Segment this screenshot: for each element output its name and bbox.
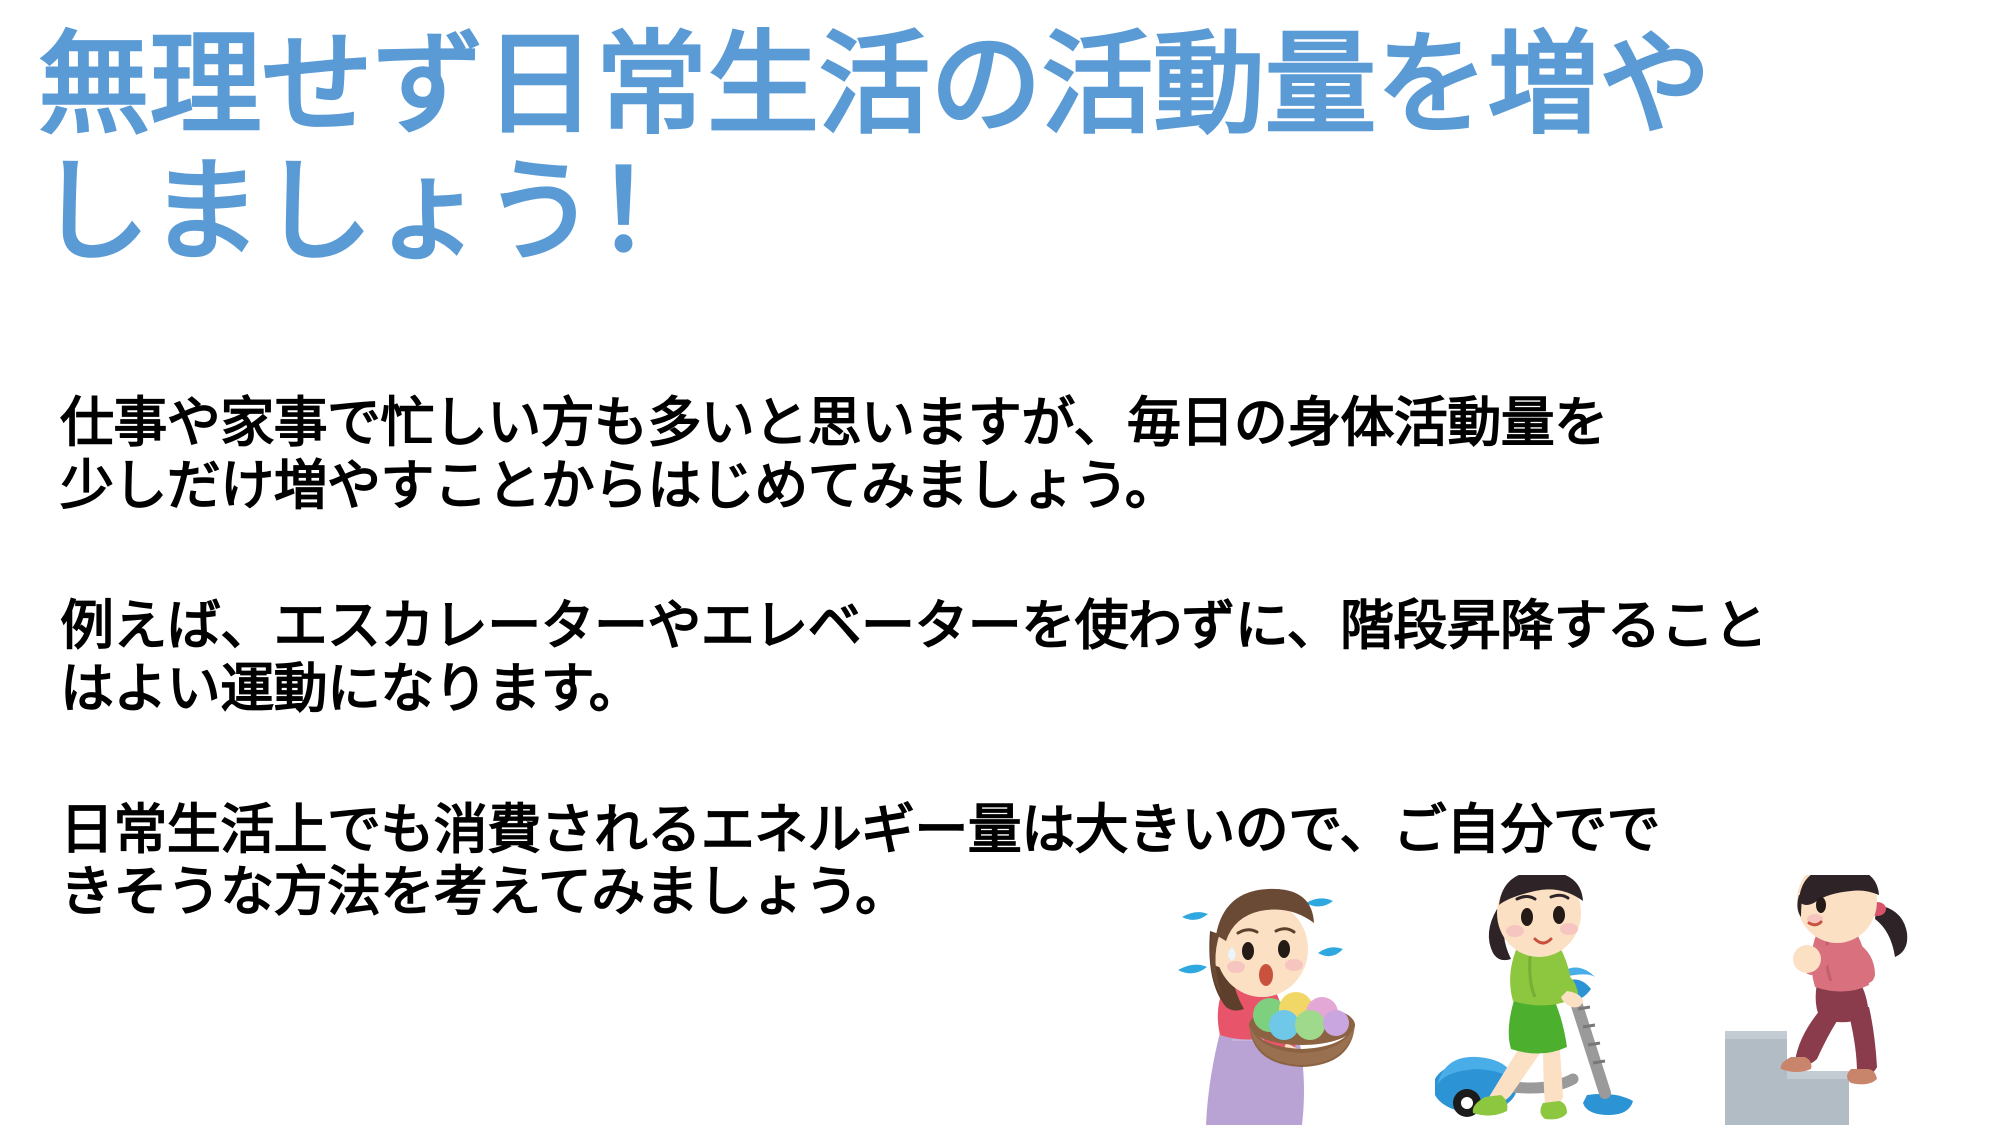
paragraph-2-line-2: はよい運動になります。 [60, 658, 1980, 721]
slide-canvas: 無理せず日常生活の活動量を増や しましょう！ 仕事や家事で忙しい方も多いと思いま… [0, 0, 2000, 1125]
paragraph-3-line-1: 日常生活上でも消費されるエネルギー量は大きいので、ご自分でで [60, 799, 1980, 862]
paragraph-1-line-2: 少しだけ増やすことからはじめてみましょう。 [60, 455, 1980, 518]
title-line-2: しましょう！ [38, 149, 1928, 276]
paragraph-1: 仕事や家事で忙しい方も多いと思いますが、毎日の身体活動量を 少しだけ増やすことか… [60, 392, 1980, 517]
paragraph-2: 例えば、エスカレーターやエレベーターを使わずに、階段昇降すること はよい運動にな… [60, 595, 1980, 720]
illustration-row [1150, 875, 2000, 1125]
paragraph-2-line-1: 例えば、エスカレーターやエレベーターを使わずに、階段昇降すること [60, 595, 1980, 658]
woman-vacuuming-illustration [1435, 875, 1695, 1125]
page-title: 無理せず日常生活の活動量を増や しましょう！ [38, 22, 1928, 275]
paragraph-1-line-1: 仕事や家事で忙しい方も多いと思いますが、毎日の身体活動量を [60, 392, 1980, 455]
woman-carrying-laundry-basket-illustration [1150, 875, 1400, 1125]
title-line-1: 無理せず日常生活の活動量を増や [38, 22, 1928, 149]
woman-climbing-stairs-illustration [1725, 875, 1995, 1125]
body-text: 仕事や家事で忙しい方も多いと思いますが、毎日の身体活動量を 少しだけ増やすことか… [60, 392, 1980, 924]
